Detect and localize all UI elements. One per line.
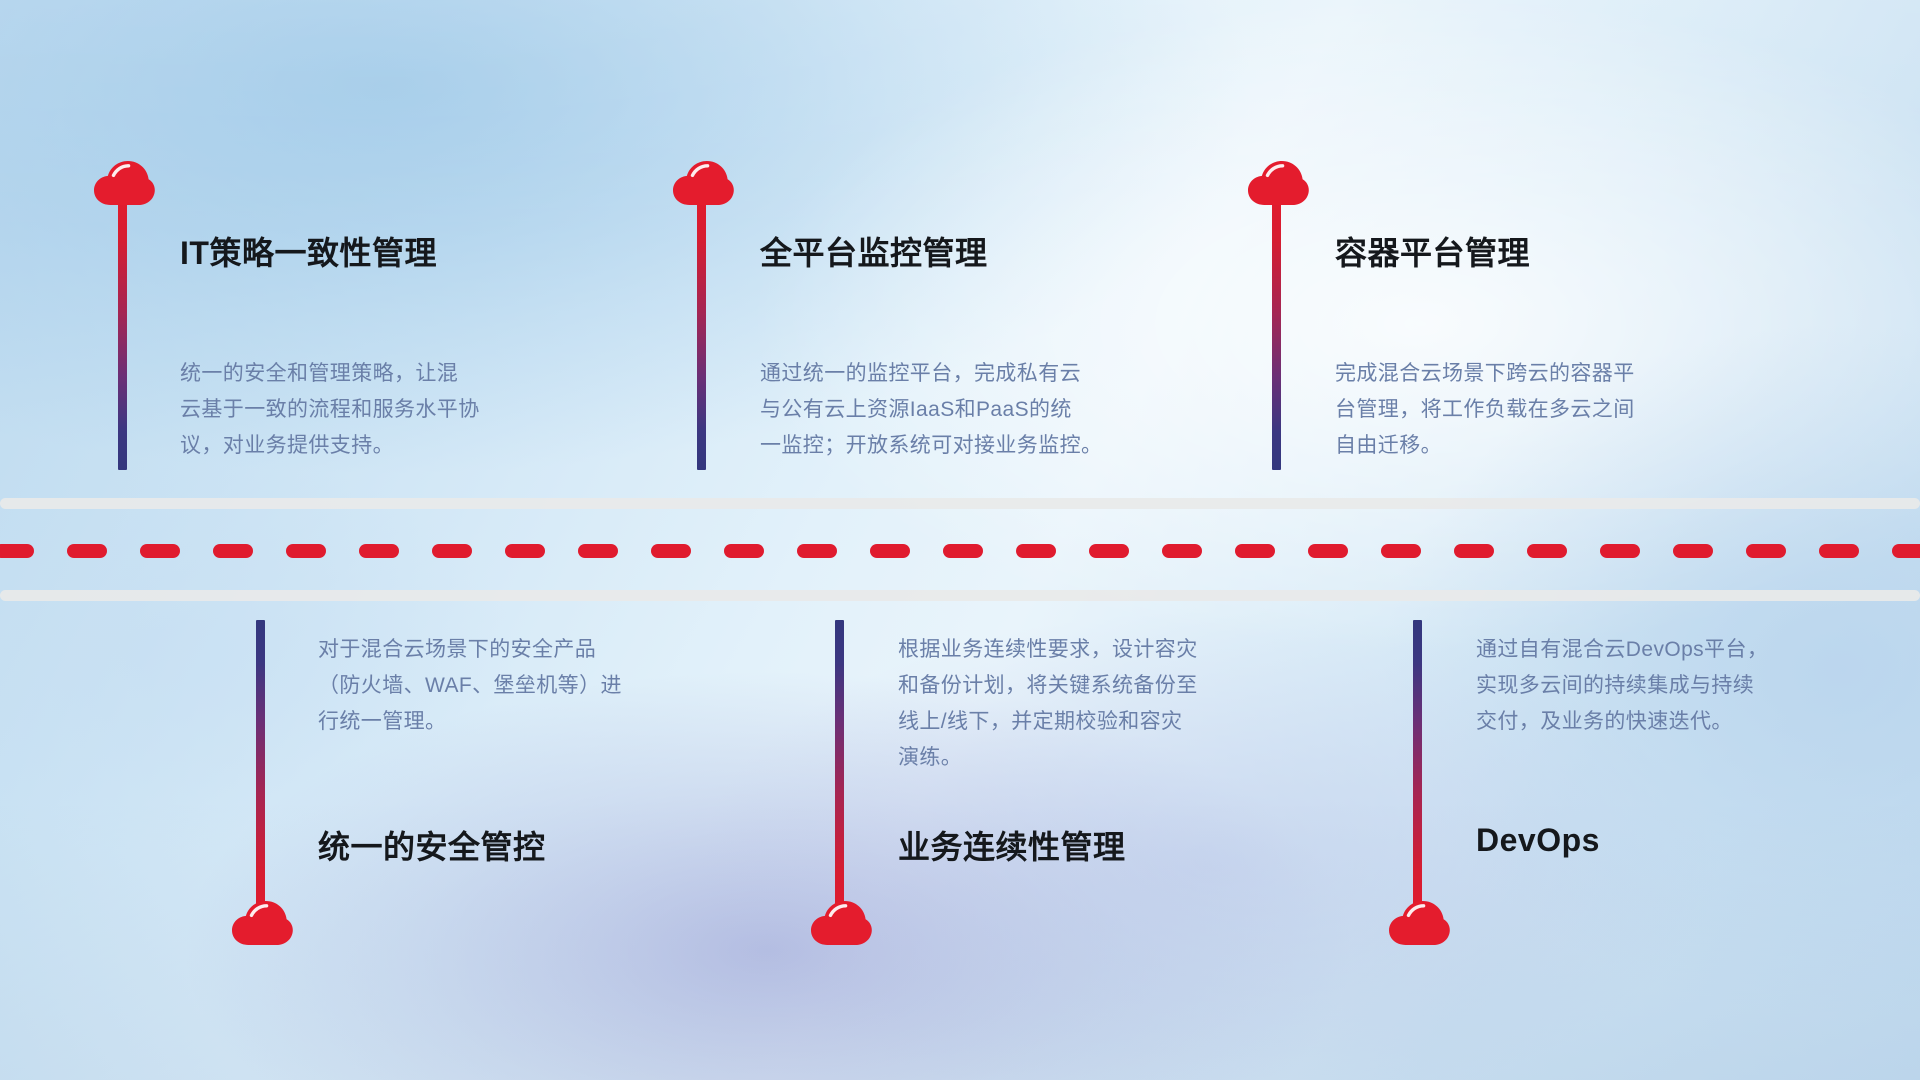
stem-bar [1272, 196, 1281, 470]
feature-description: 通过统一的监控平台，完成私有云 与公有云上资源IaaS和PaaS的统 一监控；开… [760, 356, 1102, 464]
divider-dash [870, 544, 910, 558]
divider-dash [359, 544, 399, 558]
description-line: 一监控；开放系统可对接业务监控。 [760, 428, 1102, 464]
description-line: 自由迁移。 [1335, 428, 1635, 464]
divider-dash [1381, 544, 1421, 558]
stem-bar [118, 196, 127, 470]
divider-dash [432, 544, 472, 558]
divider-dashed-line [0, 544, 1920, 558]
divider-dash [943, 544, 983, 558]
divider-dash [797, 544, 837, 558]
infographic-canvas: IT策略一致性管理 统一的安全和管理策略，让混 云基于一致的流程和服务水平协 议… [0, 0, 1920, 1080]
description-line: 线上/线下，并定期校验和容灾 [898, 704, 1198, 740]
divider-dash [1089, 544, 1129, 558]
feature-title: 容器平台管理 [1335, 228, 1530, 274]
divider-dash [1308, 544, 1348, 558]
cloud-pin-icon [1388, 900, 1450, 948]
divider-dash [651, 544, 691, 558]
divider-dash [1892, 544, 1920, 558]
description-line: 根据业务连续性要求，设计容灾 [898, 632, 1198, 668]
cloud-pin-icon [93, 160, 155, 208]
feature-description: 对于混合云场景下的安全产品 （防火墙、WAF、堡垒机等）进 行统一管理。 [318, 632, 622, 740]
feature-title: 业务连续性管理 [898, 822, 1126, 868]
feature-description: 根据业务连续性要求，设计容灾 和备份计划，将关键系统备份至 线上/线下，并定期校… [898, 632, 1198, 776]
divider-dash [1527, 544, 1567, 558]
feature-title: DevOps [1476, 822, 1600, 859]
description-line: 云基于一致的流程和服务水平协 [180, 392, 480, 428]
divider-dash [0, 544, 34, 558]
stem-bar [1413, 620, 1422, 918]
cloud-pin-icon [810, 900, 872, 948]
description-line: 议，对业务提供支持。 [180, 428, 480, 464]
description-line: 完成混合云场景下跨云的容器平 [1335, 356, 1635, 392]
divider-dash [1600, 544, 1640, 558]
stem-bar [697, 196, 706, 470]
divider-dash [578, 544, 618, 558]
feature-title: 统一的安全管控 [318, 822, 546, 868]
feature-description: 统一的安全和管理策略，让混 云基于一致的流程和服务水平协 议，对业务提供支持。 [180, 356, 480, 464]
divider-dash [1235, 544, 1275, 558]
feature-description: 通过自有混合云DevOps平台， 实现多云间的持续集成与持续 交付，及业务的快速… [1476, 632, 1768, 740]
divider-dash [140, 544, 180, 558]
cloud-pin-icon [1247, 160, 1309, 208]
divider-rule-lower [0, 590, 1920, 601]
description-line: 台管理，将工作负载在多云之间 [1335, 392, 1635, 428]
divider-dash [286, 544, 326, 558]
description-line: 通过自有混合云DevOps平台， [1476, 632, 1768, 668]
description-line: 对于混合云场景下的安全产品 [318, 632, 622, 668]
description-line: 行统一管理。 [318, 704, 622, 740]
feature-description: 完成混合云场景下跨云的容器平 台管理，将工作负载在多云之间 自由迁移。 [1335, 356, 1635, 464]
description-line: 和备份计划，将关键系统备份至 [898, 668, 1198, 704]
divider-dash [1819, 544, 1859, 558]
stem-bar [835, 620, 844, 918]
divider-rule-upper [0, 498, 1920, 509]
divider-dash [213, 544, 253, 558]
divider-dash [1016, 544, 1056, 558]
divider-dash [1162, 544, 1202, 558]
description-line: 交付，及业务的快速迭代。 [1476, 704, 1768, 740]
description-line: 通过统一的监控平台，完成私有云 [760, 356, 1102, 392]
divider-dash [505, 544, 545, 558]
divider-dash [724, 544, 764, 558]
description-line: 实现多云间的持续集成与持续 [1476, 668, 1768, 704]
description-line: （防火墙、WAF、堡垒机等）进 [318, 668, 622, 704]
description-line: 与公有云上资源IaaS和PaaS的统 [760, 392, 1102, 428]
description-line: 演练。 [898, 740, 1198, 776]
description-line: 统一的安全和管理策略，让混 [180, 356, 480, 392]
cloud-pin-icon [231, 900, 293, 948]
divider-dash [67, 544, 107, 558]
divider-dash [1673, 544, 1713, 558]
divider-dash [1746, 544, 1786, 558]
divider-dash [1454, 544, 1494, 558]
stem-bar [256, 620, 265, 918]
cloud-pin-icon [672, 160, 734, 208]
feature-title: IT策略一致性管理 [180, 228, 437, 274]
feature-title: 全平台监控管理 [760, 228, 988, 274]
